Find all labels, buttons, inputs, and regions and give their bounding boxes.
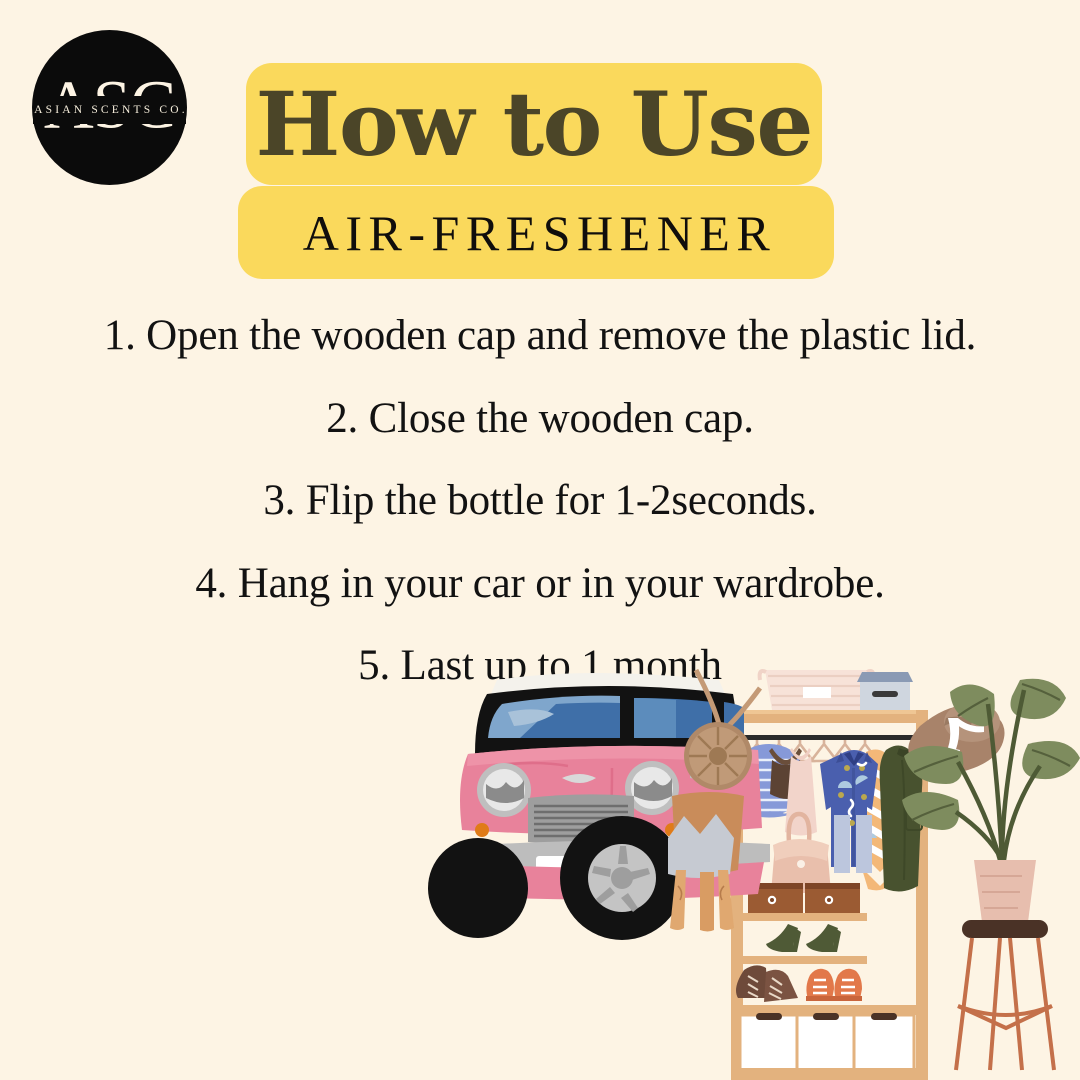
poster-canvas: ASC ASIAN SCENTS CO. AIR-FRESHENER How t…: [0, 0, 1080, 1080]
poster-subtitle: AIR-FRESHENER: [296, 208, 776, 258]
white-drawers-group: [740, 1013, 914, 1071]
title-banner: How to Use: [246, 63, 822, 185]
instruction-step-4: 4. Hang in your car or in your wardrobe.: [50, 560, 1030, 609]
illustration-car-and-wardrobe: [0, 660, 1080, 1080]
poster-title: How to Use: [256, 80, 812, 168]
rack-hang-rail: [737, 735, 922, 740]
instruction-step-3: 3. Flip the bottle for 1-2seconds.: [50, 477, 1030, 526]
orange-sneakers-icon: [806, 969, 862, 1001]
logo-wordmark-band: ASIAN SCENTS CO.: [33, 96, 186, 124]
storage-box-icon: [857, 672, 913, 710]
stool-leg-mid: [700, 872, 714, 932]
car-wheel-rear: [428, 838, 528, 938]
logo-wordmark: ASIAN SCENTS CO.: [31, 104, 188, 116]
rack-shelf-mid: [737, 913, 867, 921]
instruction-step-1: 1. Open the wooden cap and remove the pl…: [50, 312, 1030, 361]
copper-plant-stand: [956, 938, 1054, 1070]
car-wheel-front: [560, 816, 684, 940]
rack-base: [731, 1068, 928, 1080]
brand-logo: ASC ASIAN SCENTS CO.: [32, 30, 187, 185]
green-heels-icon: [766, 924, 841, 952]
car-indicator-left: [475, 823, 489, 837]
rack-shelf-low: [737, 956, 867, 964]
car-mirror: [441, 730, 455, 750]
instruction-list: 1. Open the wooden cap and remove the pl…: [50, 312, 1030, 691]
subtitle-banner: AIR-FRESHENER: [238, 186, 834, 279]
instruction-step-2: 2. Close the wooden cap.: [50, 395, 1030, 444]
plant-stand-top: [962, 920, 1048, 938]
top-shelf-items: [760, 670, 913, 710]
brown-boots-icon: [736, 965, 798, 1002]
wicker-basket-icon: [760, 670, 874, 710]
